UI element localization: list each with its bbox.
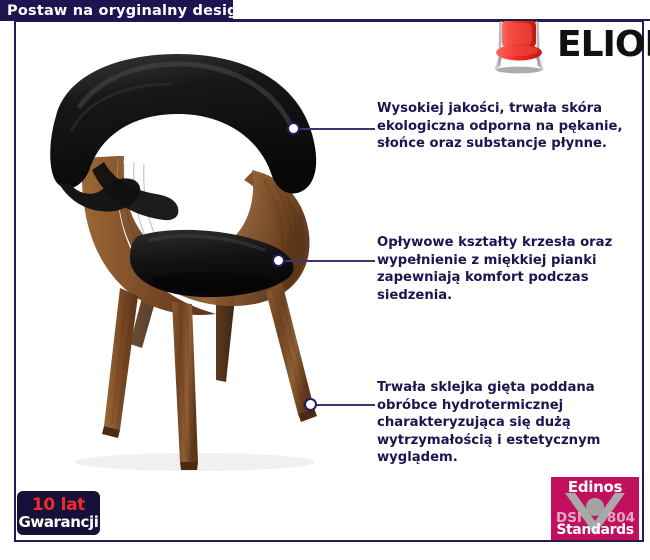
- header-banner-text: Postaw na oryginalny design!: [7, 3, 255, 19]
- certification-title: Edinos: [551, 478, 639, 496]
- product-infographic: Postaw na oryginalny design!: [0, 0, 650, 560]
- lead-line-plywood: [316, 404, 375, 406]
- callout-dot-shape: [272, 254, 285, 267]
- certification-subtitle: Standards: [551, 522, 639, 538]
- warranty-label: Gwarancji: [18, 515, 98, 530]
- header-banner: Postaw na oryginalny design!: [0, 0, 233, 21]
- lead-line-shape: [284, 260, 375, 262]
- red-chair-icon: [487, 13, 551, 77]
- lead-line-leather: [299, 128, 375, 130]
- callout-text-shape: Opływowe kształty krzesła oraz wypełnien…: [377, 234, 639, 304]
- warranty-badge: 10 lat Gwarancji: [17, 491, 100, 535]
- callout-dot-leather: [287, 122, 300, 135]
- header-banner-rule: [233, 19, 650, 21]
- callout-dot-plywood: [304, 398, 317, 411]
- callout-text-plywood: Trwała sklejka gięta poddana obróbce hyd…: [377, 379, 639, 467]
- brand-logo: ELIOR: [487, 12, 639, 78]
- brand-name: ELIOR: [557, 27, 650, 63]
- certification-badge: Edinos DSI 804 Standards: [551, 477, 639, 540]
- warranty-years: 10 lat: [32, 497, 85, 514]
- callout-text-leather: Wysokiej jakości, trwała skóra ekologicz…: [377, 100, 639, 153]
